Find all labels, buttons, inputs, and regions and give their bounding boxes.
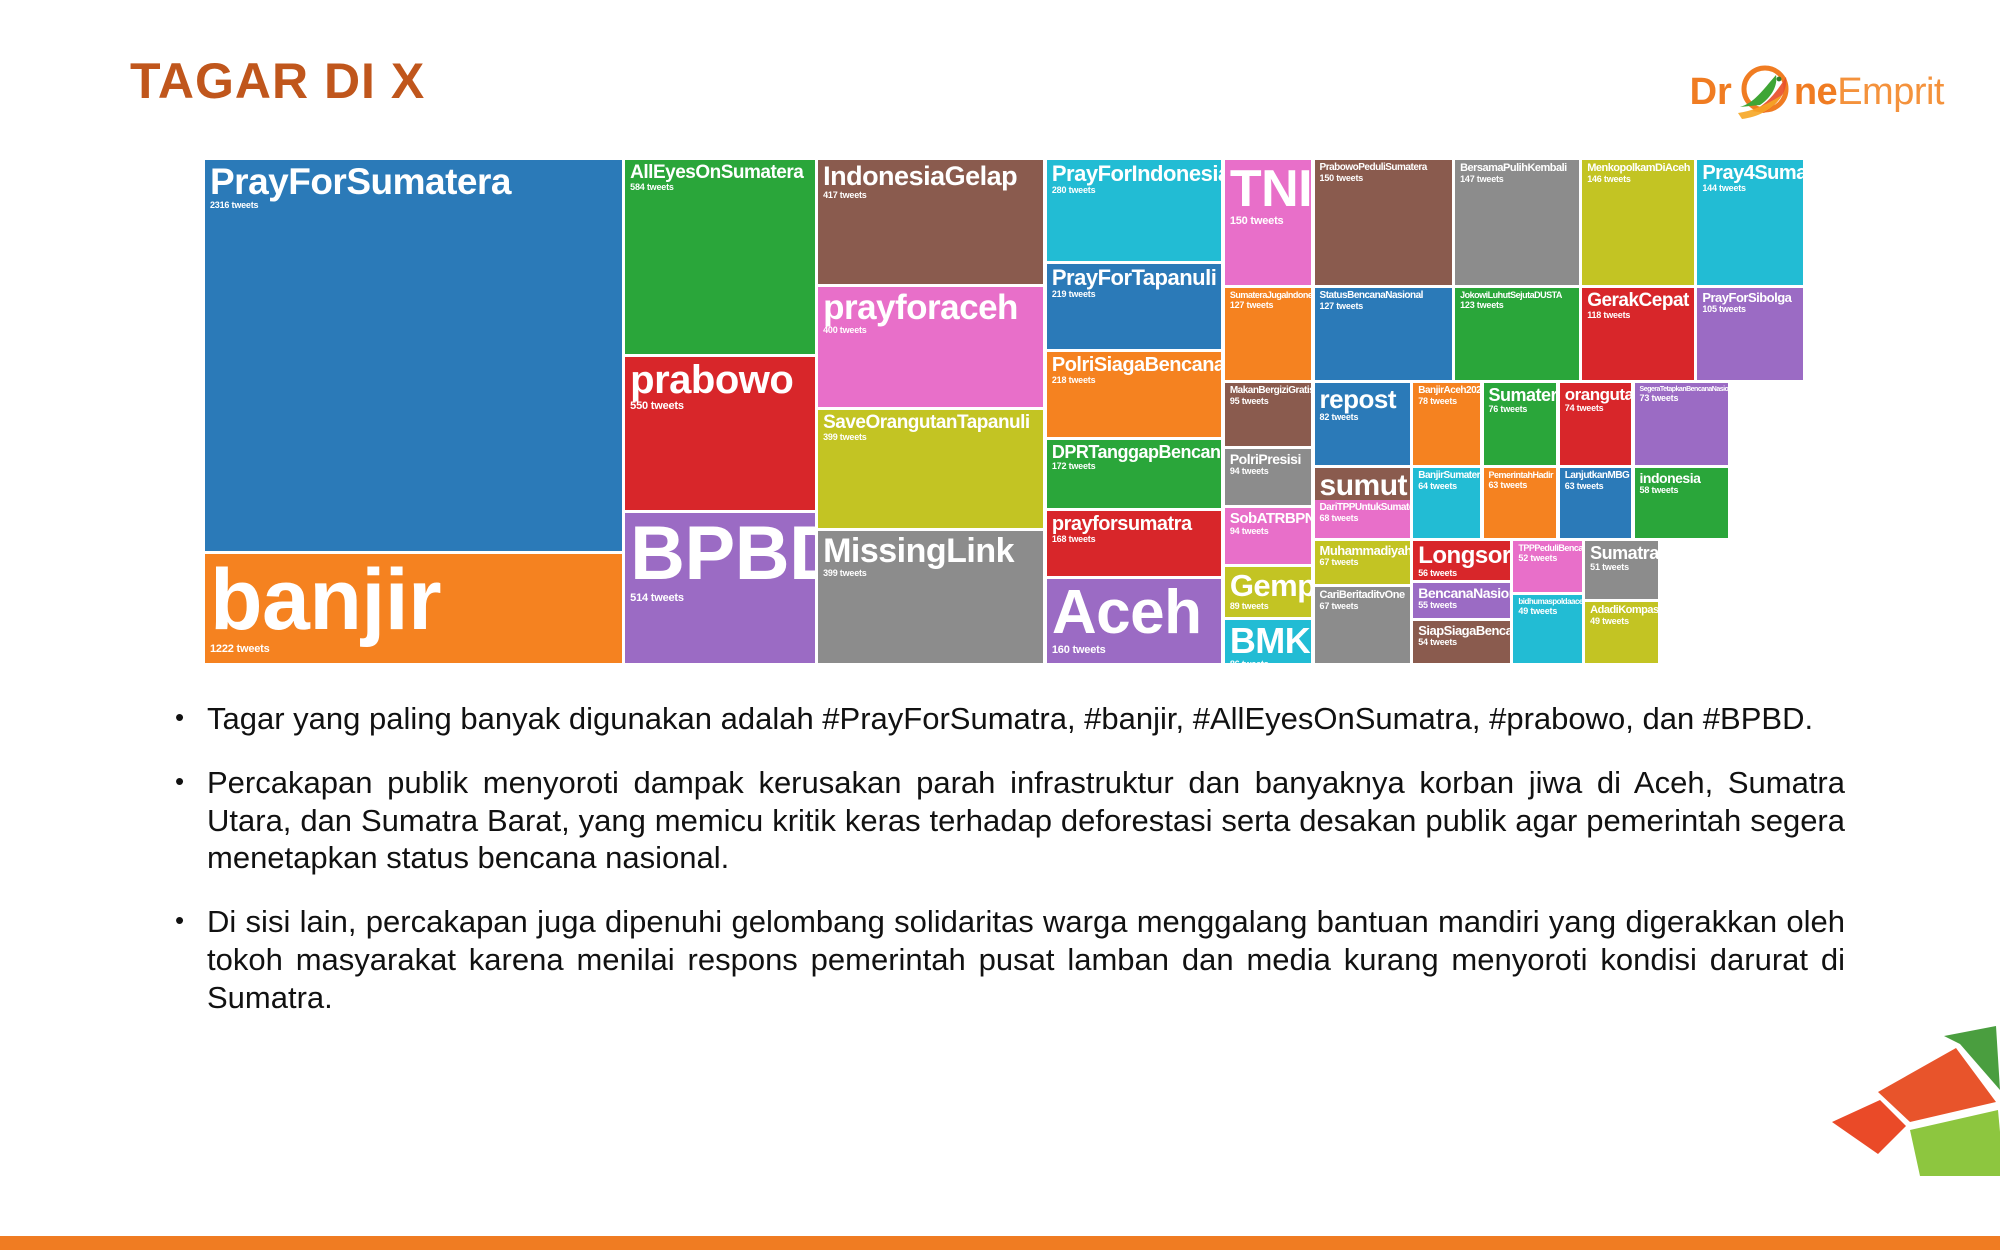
treemap-tile-label: indonesia: [1640, 471, 1725, 485]
treemap-tile[interactable]: Pray4Sumatra144 tweets: [1697, 160, 1803, 285]
treemap-tile[interactable]: BMKG86 tweets: [1225, 620, 1311, 663]
treemap-tile-label: DPRTanggapBencana: [1052, 443, 1217, 461]
treemap-tile[interactable]: Aceh160 tweets: [1047, 579, 1221, 663]
corner-decoration: [1770, 1016, 2000, 1236]
treemap-tile-label: Sumatera: [1489, 386, 1553, 404]
treemap-tile-label: PolriSiagaBencana: [1052, 355, 1217, 375]
treemap-tile-label: Sumatra: [1590, 544, 1654, 562]
treemap-tile-label: PrayForTapanuli: [1052, 267, 1217, 289]
treemap-tile-value: 417 tweets: [823, 191, 1039, 200]
treemap-tile[interactable]: BPBD514 tweets: [625, 513, 814, 663]
treemap-tile-value: 584 tweets: [630, 183, 810, 192]
treemap-tile-label: SaveOrangutanTapanuli: [823, 413, 1039, 432]
treemap-tile-label: Pray4Sumatra: [1702, 163, 1799, 183]
drone-bird-icon: [1732, 63, 1794, 121]
treemap-tile-value: 144 tweets: [1702, 184, 1799, 193]
treemap-tile-label: Muhammadiyah: [1320, 544, 1406, 557]
treemap-tile-label: PrayForSumatera: [210, 163, 618, 200]
treemap-tile[interactable]: TNI150 tweets: [1225, 160, 1311, 285]
treemap-tile[interactable]: bidhumaspoldaaceh49 tweets: [1513, 595, 1581, 663]
treemap-tile-label: bidhumaspoldaaceh: [1518, 598, 1577, 606]
treemap-tile-value: 550 tweets: [630, 401, 810, 412]
treemap-tile-value: 399 tweets: [823, 433, 1039, 442]
treemap-tile-value: 118 tweets: [1587, 311, 1690, 320]
treemap-tile[interactable]: JokowiLuhutSejutaDUSTA123 tweets: [1455, 288, 1579, 380]
treemap-tile[interactable]: LanjutkanMBG63 tweets: [1560, 468, 1631, 538]
bullet-item: •Di sisi lain, percakapan juga dipenuhi …: [175, 903, 1845, 1016]
treemap-tile[interactable]: Sumatera76 tweets: [1484, 383, 1557, 465]
treemap-tile-value: 95 tweets: [1230, 397, 1307, 406]
treemap-tile-label: BencanaNasional: [1418, 586, 1506, 600]
bullet-dot-icon: •: [175, 903, 207, 1016]
treemap-tile-label: MakanBergiziGratis: [1230, 386, 1307, 396]
treemap-tile[interactable]: PemerintahHadir63 tweets: [1484, 468, 1557, 538]
treemap-tile-value: 94 tweets: [1230, 527, 1307, 536]
treemap-tile-label: StatusBencanaNasional: [1320, 291, 1448, 301]
treemap-tile-label: JokowiLuhutSejutaDUSTA: [1460, 291, 1575, 300]
treemap-tile[interactable]: PrayForIndonesia280 tweets: [1047, 160, 1221, 261]
treemap-tile-value: 67 tweets: [1320, 558, 1406, 567]
treemap-tile[interactable]: BersamaPulihKembali147 tweets: [1455, 160, 1579, 285]
treemap-tile-label: Aceh: [1052, 582, 1217, 644]
treemap-tile[interactable]: BencanaNasional55 tweets: [1413, 583, 1510, 618]
treemap-tile[interactable]: MissingLink399 tweets: [818, 531, 1043, 663]
treemap-tile-value: 399 tweets: [823, 569, 1039, 578]
treemap-tile-value: 52 tweets: [1518, 554, 1577, 563]
treemap-tile-label: BanjirSumatera: [1418, 471, 1476, 481]
treemap-tile-label: Gempa: [1230, 570, 1307, 601]
treemap-tile[interactable]: MenkopolkamDiAceh146 tweets: [1582, 160, 1694, 285]
treemap-tile-value: 78 tweets: [1418, 397, 1476, 406]
treemap-tile-value: 280 tweets: [1052, 186, 1217, 195]
treemap-tile-label: CariBeritaditvOne: [1320, 590, 1406, 601]
bullet-item: •Tagar yang paling banyak digunakan adal…: [175, 700, 1845, 738]
treemap-tile-label: DariTPPUntukSumatera: [1320, 503, 1406, 513]
treemap-tile[interactable]: Sumatra51 tweets: [1585, 541, 1658, 599]
treemap-tile-label: SegeraTetapkanBencanaNasional: [1640, 386, 1725, 393]
treemap-tile[interactable]: TPPPeduliBencana52 tweets: [1513, 541, 1581, 592]
treemap-tile-label: prayforsumatra: [1052, 514, 1217, 534]
treemap-tile[interactable]: GerakCepat118 tweets: [1582, 288, 1694, 380]
treemap-tile-label: SiapSiagaBencana: [1418, 624, 1506, 637]
logo-suffix: neEmprit: [1794, 73, 1944, 111]
treemap-tile-label: PrabowoPeduliSumatera: [1320, 163, 1448, 173]
treemap-tile-label: prayforaceh: [823, 290, 1039, 325]
treemap-tile-value: 73 tweets: [1640, 394, 1725, 403]
treemap-tile-value: 146 tweets: [1587, 175, 1690, 184]
treemap-tile-value: 218 tweets: [1052, 376, 1217, 385]
treemap-tile-value: 2316 tweets: [210, 201, 618, 210]
treemap-tile[interactable]: IndonesiaGelap417 tweets: [818, 160, 1043, 284]
treemap-tile-label: LanjutkanMBG: [1565, 471, 1627, 481]
treemap-tile-value: 168 tweets: [1052, 535, 1217, 544]
treemap-tile-label: SobATRBPN: [1230, 511, 1307, 526]
treemap-tile-label: TPPPeduliBencana: [1518, 544, 1577, 553]
logo-emprit-text: Emprit: [1837, 71, 1944, 113]
treemap-tile-label: TNI: [1230, 163, 1307, 215]
bullet-text: Tagar yang paling banyak digunakan adala…: [207, 700, 1845, 738]
treemap-tile-label: Longsor: [1418, 544, 1506, 568]
treemap-tile[interactable]: banjir1222 tweets: [205, 554, 622, 663]
hashtag-treemap-chart: PrayForSumatera2316 tweetsbanjir1222 twe…: [205, 160, 1805, 665]
bottom-accent-bar: [0, 1236, 2000, 1250]
treemap-tile[interactable]: SumateraJugaIndonesia127 tweets: [1225, 288, 1311, 380]
treemap-tile-label: GerakCepat: [1587, 291, 1690, 310]
treemap-tile-value: 105 tweets: [1702, 305, 1799, 314]
treemap-tile-value: 127 tweets: [1320, 302, 1448, 311]
treemap-tile[interactable]: prabowo550 tweets: [625, 357, 814, 510]
treemap-tile-label: MenkopolkamDiAceh: [1587, 163, 1690, 174]
treemap-tile-value: 147 tweets: [1460, 175, 1575, 184]
treemap-tile[interactable]: DPRTanggapBencana172 tweets: [1047, 440, 1221, 508]
treemap-tile[interactable]: prayforsumatra168 tweets: [1047, 511, 1221, 576]
treemap-tile-label: AllEyesOnSumatera: [630, 163, 810, 182]
treemap-tile-label: PrayForSibolga: [1702, 291, 1799, 304]
treemap-tile-label: prabowo: [630, 360, 810, 400]
treemap-tile-label: PolriPresisi: [1230, 452, 1307, 466]
treemap-tile-value: 123 tweets: [1460, 301, 1575, 310]
treemap-tile-label: MissingLink: [823, 534, 1039, 568]
treemap-tile[interactable]: orangutan74 tweets: [1560, 383, 1631, 465]
bullet-list: •Tagar yang paling banyak digunakan adal…: [175, 700, 1845, 1043]
treemap-tile[interactable]: SiapSiagaBencana54 tweets: [1413, 621, 1510, 663]
treemap-tile-label: banjir: [210, 557, 618, 643]
logo-prefix-text: Dr: [1690, 73, 1732, 111]
treemap-tile[interactable]: SobATRBPN94 tweets: [1225, 508, 1311, 564]
treemap-tile[interactable]: AdadiKompas49 tweets: [1585, 602, 1658, 663]
treemap-tile-value: 127 tweets: [1230, 301, 1307, 310]
treemap-tile[interactable]: SegeraTetapkanBencanaNasional73 tweets: [1635, 383, 1729, 465]
treemap-tile-value: 94 tweets: [1230, 467, 1307, 476]
treemap-tile[interactable]: Gempa89 tweets: [1225, 567, 1311, 617]
treemap-tile[interactable]: StatusBencanaNasional127 tweets: [1315, 288, 1452, 380]
treemap-tile-label: BersamaPulihKembali: [1460, 163, 1575, 174]
treemap-tile[interactable]: PrayForSumatera2316 tweets: [205, 160, 622, 551]
treemap-tile-value: 63 tweets: [1565, 482, 1627, 491]
treemap-tile[interactable]: repost82 tweets: [1315, 383, 1410, 465]
treemap-tile-label: orangutan: [1565, 386, 1627, 403]
treemap-tile-label: sumut: [1320, 471, 1406, 501]
treemap-tile-value: 74 tweets: [1565, 404, 1627, 413]
treemap-tile-value: 54 tweets: [1418, 638, 1506, 647]
treemap-tile-value: 63 tweets: [1489, 481, 1553, 490]
drone-emprit-logo: Dr neEmprit: [1690, 62, 1944, 122]
bullet-item: •Percakapan publik menyoroti dampak keru…: [175, 764, 1845, 877]
treemap-tile[interactable]: BanjirSumatera64 tweets: [1413, 468, 1480, 538]
bullet-text: Percakapan publik menyoroti dampak kerus…: [207, 764, 1845, 877]
treemap-tile-value: 49 tweets: [1590, 617, 1654, 626]
treemap-tile-value: 58 tweets: [1640, 486, 1725, 495]
treemap-tile[interactable]: SaveOrangutanTapanuli399 tweets: [818, 410, 1043, 528]
treemap-tile-value: 150 tweets: [1320, 174, 1448, 183]
treemap-tile[interactable]: BanjirAceh202578 tweets: [1413, 383, 1480, 465]
treemap-tile-value: 89 tweets: [1230, 602, 1307, 611]
treemap-tile-value: 76 tweets: [1489, 405, 1553, 414]
treemap-tile[interactable]: CariBeritaditvOne67 tweets: [1315, 587, 1410, 663]
treemap-tile-value: 67 tweets: [1320, 602, 1406, 611]
bullet-text: Di sisi lain, percakapan juga dipenuhi g…: [207, 903, 1845, 1016]
treemap-tile-value: 56 tweets: [1418, 569, 1506, 578]
treemap-tile-label: BanjirAceh2025: [1418, 386, 1476, 396]
treemap-tile[interactable]: indonesia58 tweets: [1635, 468, 1729, 538]
treemap-tile[interactable]: PrayForSibolga105 tweets: [1697, 288, 1803, 380]
treemap-tile[interactable]: PolriSiagaBencana218 tweets: [1047, 352, 1221, 437]
treemap-tile-label: IndonesiaGelap: [823, 163, 1039, 190]
treemap-tile-label: repost: [1320, 386, 1406, 412]
treemap-tile-label: BPBD: [630, 516, 810, 592]
treemap-tile-label: AdadiKompas: [1590, 605, 1654, 616]
treemap-tile[interactable]: PrayForTapanuli219 tweets: [1047, 264, 1221, 349]
treemap-tile[interactable]: PolriPresisi94 tweets: [1225, 449, 1311, 505]
treemap-tile-label: SumateraJugaIndonesia: [1230, 291, 1307, 300]
treemap-tile[interactable]: Longsor56 tweets: [1413, 541, 1510, 580]
bullet-dot-icon: •: [175, 700, 207, 738]
treemap-tile[interactable]: DariTPPUntukSumatera68 tweets: [1315, 500, 1410, 538]
treemap-tile-value: 49 tweets: [1518, 607, 1577, 616]
treemap-tile-label: BMKG: [1230, 623, 1307, 659]
logo-ne-text: ne: [1794, 71, 1837, 113]
treemap-tile[interactable]: MakanBergiziGratis95 tweets: [1225, 383, 1311, 446]
treemap-tile-value: 55 tweets: [1418, 601, 1506, 610]
treemap-tile-value: 219 tweets: [1052, 290, 1217, 299]
treemap-tile-value: 64 tweets: [1418, 482, 1476, 491]
bullet-dot-icon: •: [175, 764, 207, 877]
treemap-tile[interactable]: prayforaceh400 tweets: [818, 287, 1043, 407]
treemap-tile[interactable]: AllEyesOnSumatera584 tweets: [625, 160, 814, 354]
treemap-tile[interactable]: Muhammadiyah67 tweets: [1315, 541, 1410, 584]
treemap-tile-label: PrayForIndonesia: [1052, 163, 1217, 185]
treemap-tile-value: 68 tweets: [1320, 514, 1406, 523]
treemap-tile-value: 400 tweets: [823, 326, 1039, 335]
treemap-tile[interactable]: PrabowoPeduliSumatera150 tweets: [1315, 160, 1452, 285]
page-title: TAGAR DI X: [130, 52, 425, 110]
treemap-tile-value: 51 tweets: [1590, 563, 1654, 572]
treemap-tile-value: 172 tweets: [1052, 462, 1217, 471]
treemap-tile-value: 82 tweets: [1320, 413, 1406, 422]
treemap-tile-label: PemerintahHadir: [1489, 471, 1553, 480]
